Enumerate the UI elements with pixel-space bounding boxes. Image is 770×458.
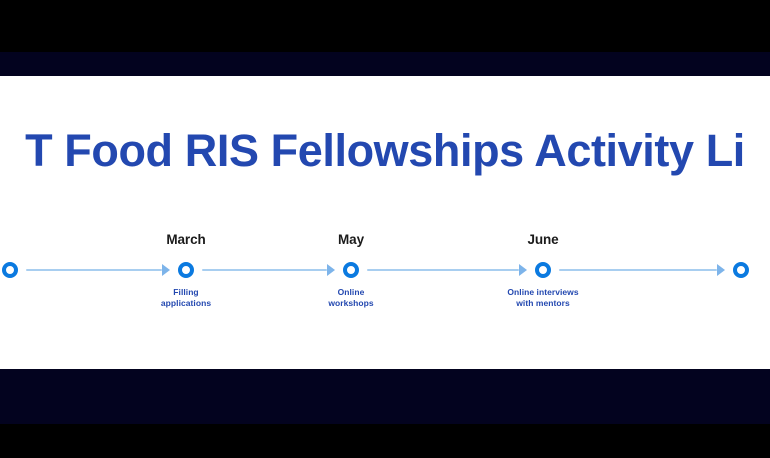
timeline-caption-march: Fillingapplications [161, 287, 211, 309]
timeline-node-may[interactable] [343, 262, 359, 278]
letterbox-band-navy-bottom [0, 369, 770, 424]
slide-frame: T Food RIS Fellowships Activity Li March… [0, 0, 770, 458]
timeline: MarchFillingapplicationsMayOnlineworksho… [0, 76, 770, 369]
timeline-node-4[interactable] [733, 262, 749, 278]
timeline-connector-1 [202, 269, 327, 271]
timeline-caption-line: Online [328, 287, 373, 298]
timeline-connector-3 [559, 269, 717, 271]
timeline-connector-0 [26, 269, 162, 271]
timeline-caption-line: Filling [161, 287, 211, 298]
timeline-caption-line: workshops [328, 298, 373, 309]
timeline-caption-june: Online interviewswith mentors [507, 287, 578, 309]
timeline-arrow-icon-3 [717, 264, 725, 276]
slide-canvas: T Food RIS Fellowships Activity Li March… [0, 76, 770, 369]
letterbox-band-black-bottom [0, 424, 770, 458]
timeline-node-0[interactable] [2, 262, 18, 278]
timeline-caption-line: with mentors [507, 298, 578, 309]
timeline-caption-line: Online interviews [507, 287, 578, 298]
timeline-arrow-icon-2 [519, 264, 527, 276]
timeline-arrow-icon-0 [162, 264, 170, 276]
timeline-month-label-march: March [166, 232, 205, 247]
timeline-connector-2 [367, 269, 519, 271]
timeline-month-label-june: June [527, 232, 558, 247]
timeline-node-june[interactable] [535, 262, 551, 278]
timeline-node-march[interactable] [178, 262, 194, 278]
timeline-arrow-icon-1 [327, 264, 335, 276]
timeline-month-label-may: May [338, 232, 364, 247]
timeline-caption-may: Onlineworkshops [328, 287, 373, 309]
timeline-caption-line: applications [161, 298, 211, 309]
letterbox-band-navy-top [0, 52, 770, 76]
letterbox-band-black-top [0, 0, 770, 52]
